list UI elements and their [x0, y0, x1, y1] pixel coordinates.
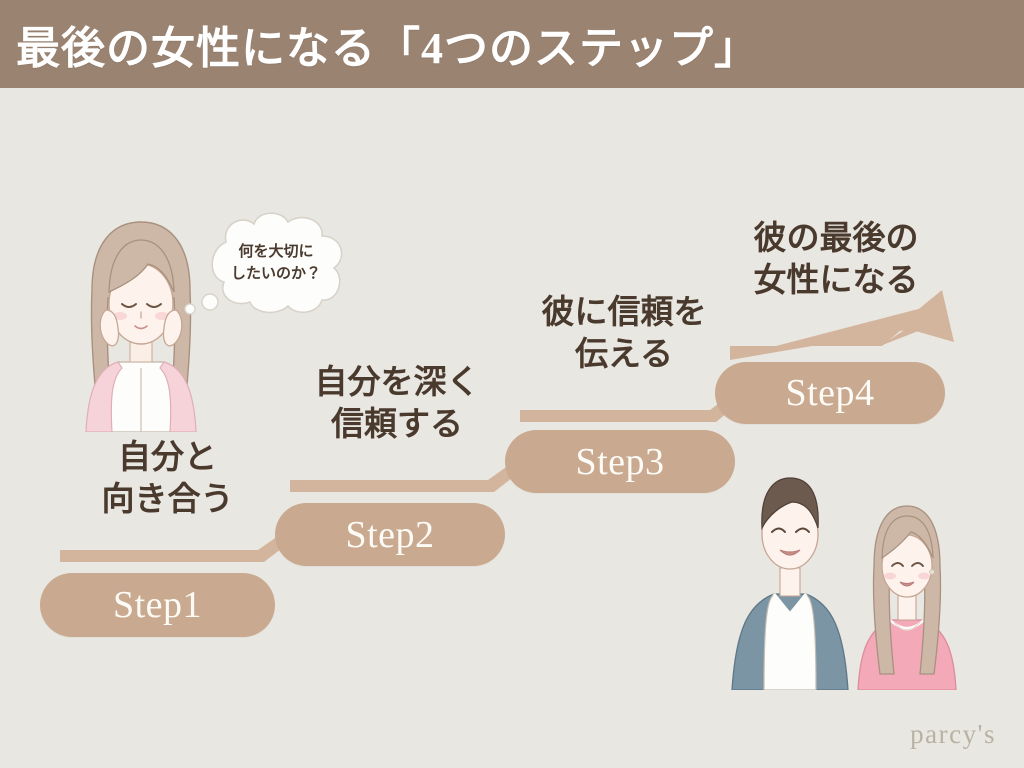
page-title: 最後の女性になる「4つのステップ」	[16, 12, 759, 76]
caption-step4: 彼の最後の 女性になる	[725, 218, 947, 302]
infographic-stage: 最後の女性になる「4つのステップ」	[0, 0, 1024, 768]
parcys-logo: parcy's	[910, 719, 996, 750]
step-pill-4[interactable]: Step4	[715, 362, 945, 424]
step-pill-2[interactable]: Step2	[275, 503, 505, 566]
smiling-couple-illustration	[712, 462, 970, 690]
caption-step3: 彼に信頼を 伝える	[515, 292, 733, 376]
header-banner: 最後の女性になる「4つのステップ」	[0, 0, 1024, 88]
caption-step2: 自分を深く 信頼する	[288, 362, 506, 446]
step-pill-1[interactable]: Step1	[40, 573, 275, 637]
caption-step1: 自分と 向き合う	[60, 437, 275, 521]
thought-bubble-dots	[178, 292, 222, 322]
step-pill-3[interactable]: Step3	[505, 430, 735, 493]
